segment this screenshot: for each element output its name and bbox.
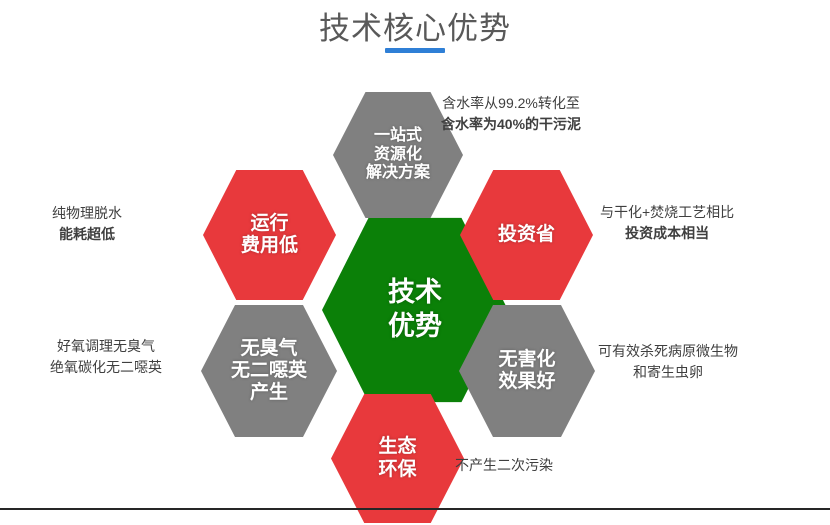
annotation-lower-left-line2: 绝氧碳化无二噁英 bbox=[50, 357, 162, 378]
hexagon-eco-friendly[interactable]: 生态 环保 bbox=[331, 392, 464, 525]
hexagon-lower-left-label: 无臭气 无二噁英 产生 bbox=[227, 338, 311, 404]
hexagon-diagram: 技术 优势 一站式 资源化 解决方案 运行 费用低 投资省 无臭气 无二噁英 产… bbox=[0, 70, 830, 500]
annotation-eco-friendly: 不产生二次污染 bbox=[455, 455, 553, 476]
annotation-top-right-line2: 含水率为40%的干污泥 bbox=[441, 114, 581, 135]
annotation-lower-left-line1: 好氧调理无臭气 bbox=[50, 336, 162, 357]
annotation-lower-right-line1: 可有效杀死病原微生物 bbox=[598, 341, 738, 362]
annotation-harmless-treatment: 可有效杀死病原微生物 和寄生虫卵 bbox=[598, 341, 738, 383]
annotation-low-operating-cost: 纯物理脱水 能耗超低 bbox=[52, 203, 122, 245]
annotation-top-right-line1: 含水率从99.2%转化至 bbox=[441, 93, 581, 114]
annotation-right-line1: 与干化+焚烧工艺相比 bbox=[600, 202, 734, 223]
hexagon-upper-right-label: 投资省 bbox=[494, 224, 559, 246]
hexagon-center-label: 技术 优势 bbox=[384, 276, 446, 344]
hexagon-upper-left-label: 运行 费用低 bbox=[237, 213, 302, 257]
annotation-left-line1: 纯物理脱水 bbox=[52, 203, 122, 224]
hexagon-bottom-label: 生态 环保 bbox=[374, 436, 420, 480]
annotation-lower-right-line2: 和寄生虫卵 bbox=[598, 362, 738, 383]
annotation-bottom-line1: 不产生二次污染 bbox=[455, 455, 553, 476]
hexagon-top-label: 一站式 资源化 解决方案 bbox=[362, 127, 434, 183]
page-title-text: 技术核心优势 bbox=[319, 8, 511, 50]
annotation-right-line2: 投资成本相当 bbox=[600, 223, 734, 244]
bottom-divider bbox=[0, 508, 830, 510]
hexagon-low-operating-cost[interactable]: 运行 费用低 bbox=[203, 168, 336, 302]
hexagon-no-odor-no-dioxin[interactable]: 无臭气 无二噁英 产生 bbox=[201, 303, 337, 439]
annotation-no-odor-no-dioxin: 好氧调理无臭气 绝氧碳化无二噁英 bbox=[50, 336, 162, 378]
annotation-one-stop-solution: 含水率从99.2%转化至 含水率为40%的干污泥 bbox=[441, 93, 581, 135]
title-underline-accent bbox=[385, 48, 445, 53]
hexagon-lower-right-label: 无害化 效果好 bbox=[494, 349, 559, 393]
annotation-left-line2: 能耗超低 bbox=[52, 224, 122, 245]
page-title: 技术核心优势 bbox=[0, 8, 830, 50]
annotation-low-investment: 与干化+焚烧工艺相比 投资成本相当 bbox=[600, 202, 734, 244]
